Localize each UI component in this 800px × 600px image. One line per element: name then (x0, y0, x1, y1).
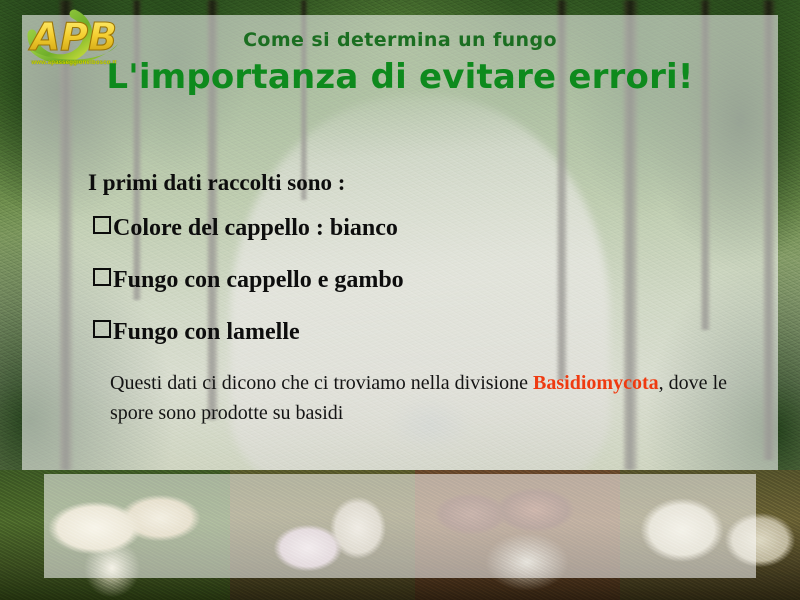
hollow-square-bullet-icon (93, 268, 111, 286)
photo-strip-overlay (44, 474, 756, 578)
list-item: Colore del cappello : bianco (93, 216, 733, 241)
list-item-label: Fungo con lamelle (113, 320, 300, 345)
list-item: Fungo con cappello e gambo (93, 268, 733, 293)
hollow-square-bullet-icon (93, 216, 111, 234)
list-item: Fungo con lamelle (93, 320, 733, 345)
list-item-label: Colore del cappello : bianco (113, 216, 398, 241)
slide: APB www.apasseggionelbosco.it Come si de… (0, 0, 800, 600)
lead-text: I primi dati raccolti sono : (88, 170, 345, 196)
paragraph-before: Questi dati ci dicono che ci troviamo ne… (110, 372, 533, 394)
slide-title: L'importanza di evitare errori! (0, 57, 800, 97)
bullet-list: Colore del cappello : bianco Fungo con c… (93, 216, 733, 373)
list-item-label: Fungo con cappello e gambo (113, 268, 404, 293)
conclusion-paragraph: Questi dati ci dicono che ci troviamo ne… (110, 368, 727, 428)
hollow-square-bullet-icon (93, 320, 111, 338)
division-name: Basidiomycota (533, 372, 659, 394)
slide-subtitle: Come si determina un fungo (0, 29, 800, 51)
